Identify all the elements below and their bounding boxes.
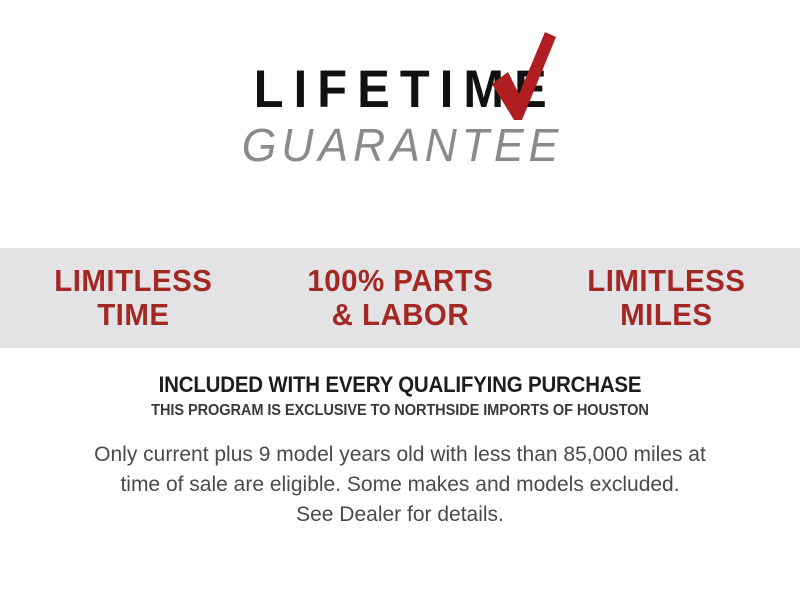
logo-word-lifetime: LIFETIME (243, 62, 556, 118)
fineprint-headline: INCLUDED WITH EVERY QUALIFYING PURCHASE (28, 372, 772, 398)
feature-line-1: LIMITLESS (540, 264, 793, 298)
logo-lifetime-wrap: LIFETIME (230, 62, 570, 118)
lifetime-guarantee-ad: LIFETIME GUARANTEE LIMITLESS TIME 100% P… (0, 0, 800, 600)
fineprint-block: INCLUDED WITH EVERY QUALIFYING PURCHASE … (0, 372, 800, 530)
fineprint-body: Only current plus 9 model years old with… (0, 440, 800, 530)
feature-line-2: & LABOR (273, 298, 526, 332)
feature-line-1: LIMITLESS (7, 264, 260, 298)
logo-block: LIFETIME GUARANTEE (0, 62, 800, 170)
fineprint-subline: THIS PROGRAM IS EXCLUSIVE TO NORTHSIDE I… (24, 401, 776, 421)
feature-column-parts-labor: 100% PARTS & LABOR (273, 264, 526, 332)
fineprint-body-line-3: See Dealer for details. (0, 500, 800, 530)
feature-column-limitless-miles: LIMITLESS MILES (540, 264, 793, 332)
fineprint-body-line-1: Only current plus 9 model years old with… (0, 440, 800, 470)
logo-word-guarantee: GUARANTEE (12, 120, 788, 170)
feature-line-2: TIME (7, 298, 260, 332)
feature-line-1: 100% PARTS (273, 264, 526, 298)
feature-band: LIMITLESS TIME 100% PARTS & LABOR LIMITL… (0, 248, 800, 348)
feature-column-limitless-time: LIMITLESS TIME (7, 264, 260, 332)
feature-line-2: MILES (540, 298, 793, 332)
fineprint-body-line-2: time of sale are eligible. Some makes an… (0, 470, 800, 500)
